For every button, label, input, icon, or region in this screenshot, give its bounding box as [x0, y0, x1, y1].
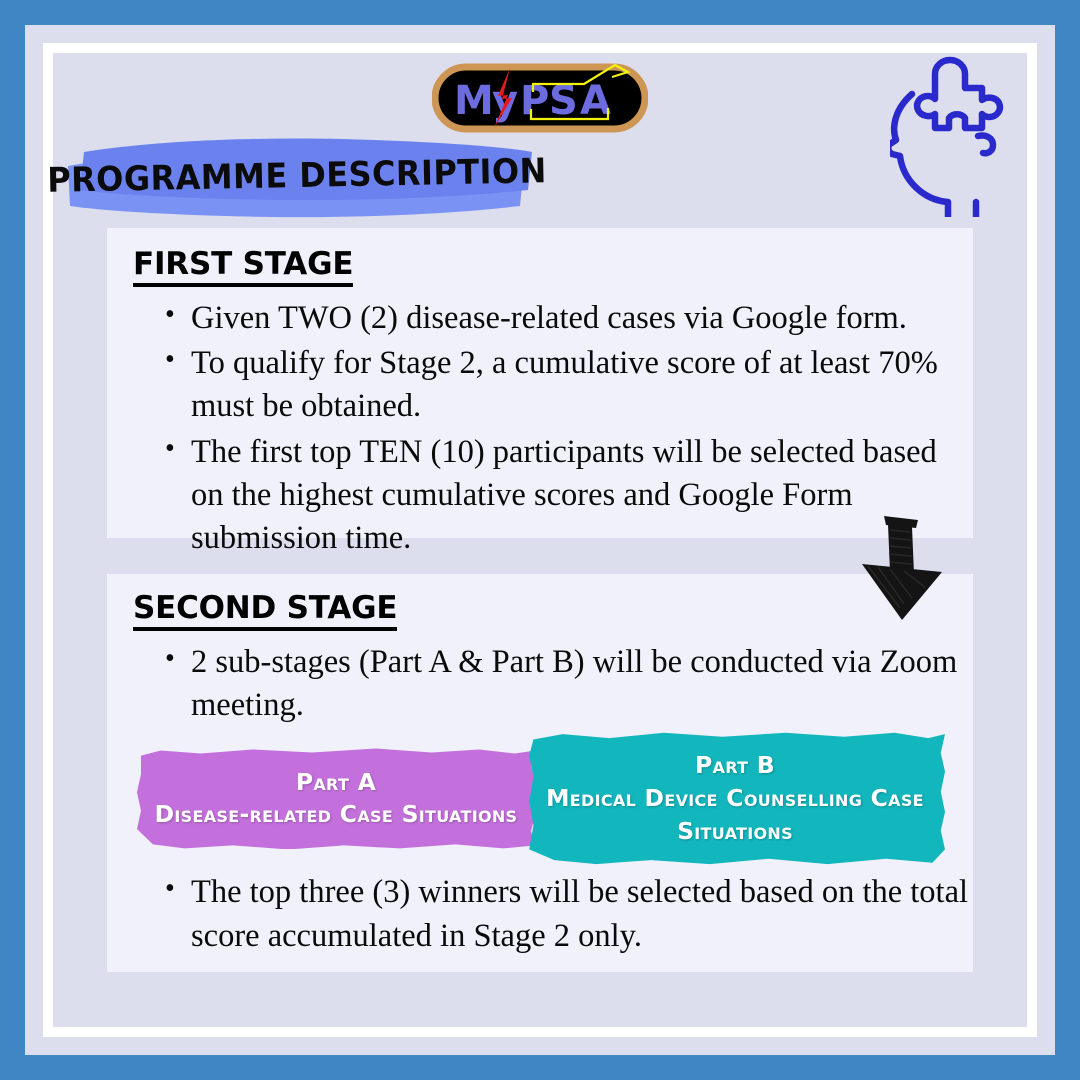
- svg-text:M: M: [454, 78, 495, 124]
- list-item: The top three (3) winners will be select…: [107, 871, 973, 957]
- list-item: The first top TEN (10) participants will…: [113, 431, 953, 561]
- part-a-badge: Part A Disease-related Case Situations: [137, 747, 535, 849]
- part-b-label: Part B: [539, 749, 931, 782]
- mypsa-logo: M y P S A: [432, 62, 648, 134]
- second-stage-bullet-list-bottom: The top three (3) winners will be select…: [107, 871, 973, 957]
- list-item: Given TWO (2) disease-related cases via …: [113, 297, 953, 340]
- part-b-description: Medical Device Counselling Case Situatio…: [539, 782, 931, 848]
- poster-canvas: M y P S A Programme Descri: [0, 0, 1080, 1080]
- first-stage-panel: FIRST STAGE Given TWO (2) disease-relate…: [107, 228, 973, 538]
- part-a-description: Disease-related Case Situations: [155, 798, 518, 830]
- programme-description-title: Programme Description: [62, 128, 532, 224]
- first-stage-bullet-list: Given TWO (2) disease-related cases via …: [113, 297, 973, 560]
- sketch-down-arrow-icon: [856, 512, 948, 622]
- part-a-label: Part A: [155, 766, 518, 798]
- second-stage-bullet-list-top: 2 sub-stages (Part A & Part B) will be c…: [107, 641, 973, 727]
- head-puzzle-icon: [890, 52, 1025, 217]
- title-text: Programme Description: [75, 124, 519, 228]
- second-stage-heading: SECOND STAGE: [133, 590, 397, 631]
- list-item: To qualify for Stage 2, a cumulative sco…: [113, 342, 953, 428]
- part-badges: Part A Disease-related Case Situations P…: [107, 731, 973, 867]
- first-stage-heading: FIRST STAGE: [133, 246, 353, 287]
- list-item: 2 sub-stages (Part A & Part B) will be c…: [107, 641, 973, 727]
- part-b-badge: Part B Medical Device Counselling Case S…: [525, 731, 945, 865]
- second-stage-panel: SECOND STAGE 2 sub-stages (Part A & Part…: [107, 574, 973, 972]
